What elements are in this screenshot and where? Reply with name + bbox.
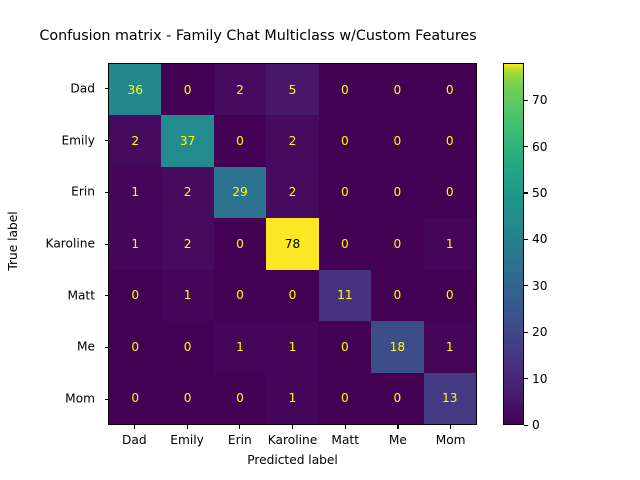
heatmap-cell: 0 xyxy=(371,115,423,166)
heatmap-cell: 0 xyxy=(214,218,266,269)
x-axis-title: Predicted label xyxy=(108,453,477,467)
heatmap-cell-value: 36 xyxy=(127,84,143,96)
heatmap-cell-value: 1 xyxy=(236,341,244,353)
heatmap-cell: 1 xyxy=(424,218,476,269)
y-tick-label-text: Dad xyxy=(70,81,95,95)
heatmap-cell-value: 0 xyxy=(393,84,401,96)
x-tick-label: Mom xyxy=(436,433,466,447)
x-tick-label: Karoline xyxy=(268,433,317,447)
heatmap-cell-value: 2 xyxy=(289,135,297,147)
heatmap-cell: 0 xyxy=(371,373,423,424)
heatmap-cell: 1 xyxy=(109,218,161,269)
heatmap-cell: 0 xyxy=(109,321,161,372)
x-tick-mark xyxy=(450,425,451,429)
heatmap-cell-value: 0 xyxy=(341,84,349,96)
heatmap-cell-value: 0 xyxy=(341,341,349,353)
heatmap-cell-value: 0 xyxy=(289,289,297,301)
heatmap-cell-value: 1 xyxy=(184,289,192,301)
heatmap-cell-value: 11 xyxy=(337,289,353,301)
heatmap-cell-value: 18 xyxy=(390,341,406,353)
heatmap-cell-value: 0 xyxy=(341,392,349,404)
x-axis-tick-labels: DadEmilyErinKarolineMattMeMom xyxy=(108,425,477,455)
heatmap-cell: 1 xyxy=(161,270,213,321)
x-tick-label: Erin xyxy=(228,433,252,447)
heatmap-cell-value: 2 xyxy=(184,186,192,198)
colorbar-tick-label: 30 xyxy=(532,279,548,293)
heatmap-cell: 5 xyxy=(266,64,318,115)
y-tick-label-text: Matt xyxy=(67,288,95,302)
colorbar-tick-mark xyxy=(524,285,528,286)
heatmap-cell-value: 0 xyxy=(393,289,401,301)
heatmap-cell-value: 0 xyxy=(236,392,244,404)
x-tick-mark xyxy=(345,425,346,429)
heatmap-cell: 18 xyxy=(371,321,423,372)
heatmap-cell-value: 0 xyxy=(131,392,139,404)
heatmap-cell: 0 xyxy=(371,167,423,218)
heatmap-cell: 0 xyxy=(319,321,371,372)
heatmap-cell-value: 0 xyxy=(393,135,401,147)
colorbar-tick-mark xyxy=(524,146,528,147)
heatmap-cell: 0 xyxy=(319,167,371,218)
heatmap-cell: 1 xyxy=(214,321,266,372)
heatmap-cell-value: 2 xyxy=(184,238,192,250)
heatmap-cell-value: 2 xyxy=(236,84,244,96)
heatmap-cell-value: 1 xyxy=(131,186,139,198)
heatmap-cell-value: 0 xyxy=(446,289,454,301)
heatmap-cell: 0 xyxy=(424,115,476,166)
heatmap-cell: 36 xyxy=(109,64,161,115)
heatmap-cell-value: 0 xyxy=(184,341,192,353)
heatmap-cell-value: 37 xyxy=(180,135,196,147)
heatmap-cell-value: 0 xyxy=(236,135,244,147)
heatmap-cell-value: 0 xyxy=(393,392,401,404)
heatmap-cell-value: 1 xyxy=(289,341,297,353)
heatmap-cell: 29 xyxy=(214,167,266,218)
heatmap-cell: 0 xyxy=(371,270,423,321)
y-tick-label-text: Karoline xyxy=(46,237,95,251)
colorbar-tick-mark xyxy=(524,378,528,379)
heatmap-cell-value: 0 xyxy=(184,392,192,404)
colorbar-tick-label: 70 xyxy=(532,93,548,107)
heatmap-cell: 2 xyxy=(214,64,266,115)
colorbar-gradient xyxy=(503,63,524,425)
chart-title: Confusion matrix - Family Chat Multiclas… xyxy=(0,28,516,44)
x-tick-label: Dad xyxy=(122,433,147,447)
colorbar-tick-label: 40 xyxy=(532,232,548,246)
heatmap-cell: 0 xyxy=(266,270,318,321)
colorbar-tick-label: 20 xyxy=(532,325,548,339)
heatmap-cell: 0 xyxy=(161,64,213,115)
heatmap-cell-value: 0 xyxy=(393,238,401,250)
heatmap-cell: 0 xyxy=(424,64,476,115)
heatmap-cell-value: 0 xyxy=(131,289,139,301)
heatmap-cell-value: 0 xyxy=(236,289,244,301)
heatmap-cell-value: 0 xyxy=(393,186,401,198)
colorbar-tick-mark xyxy=(524,332,528,333)
colorbar-tick-label: 10 xyxy=(532,372,548,386)
heatmap-cell: 2 xyxy=(109,115,161,166)
x-tick-label: Matt xyxy=(331,433,359,447)
heatmap-cell-value: 2 xyxy=(289,186,297,198)
y-axis-tick-labels: DadEmilyErinKarolineMattMeMom xyxy=(0,63,108,425)
heatmap-cell: 78 xyxy=(266,218,318,269)
y-tick-label-text: Erin xyxy=(71,185,95,199)
heatmap-cell-value: 0 xyxy=(341,238,349,250)
heatmap-cell-value: 2 xyxy=(131,135,139,147)
x-tick-mark xyxy=(397,425,398,429)
heatmap-cell: 2 xyxy=(266,115,318,166)
colorbar-tick-label: 50 xyxy=(532,186,548,200)
heatmap-cell: 0 xyxy=(424,270,476,321)
y-tick-label-text: Emily xyxy=(61,133,95,147)
heatmap-cell: 0 xyxy=(214,270,266,321)
colorbar-tick-mark xyxy=(524,192,528,193)
confusion-matrix-figure: Confusion matrix - Family Chat Multiclas… xyxy=(0,0,640,480)
heatmap-cell-value: 0 xyxy=(184,84,192,96)
x-tick-mark xyxy=(292,425,293,429)
heatmap-cell-value: 0 xyxy=(446,186,454,198)
heatmap-cell: 11 xyxy=(319,270,371,321)
heatmap-cell-value: 0 xyxy=(341,186,349,198)
colorbar-tick-label: 0 xyxy=(532,418,540,432)
heatmap-cell: 2 xyxy=(266,167,318,218)
heatmap-cell-value: 0 xyxy=(446,135,454,147)
heatmap-cell: 0 xyxy=(214,373,266,424)
x-tick-mark xyxy=(134,425,135,429)
heatmap-cell-value: 5 xyxy=(289,84,297,96)
heatmap-cell: 37 xyxy=(161,115,213,166)
heatmap-cell: 0 xyxy=(319,115,371,166)
heatmap-cell: 0 xyxy=(319,218,371,269)
heatmap-cell: 0 xyxy=(371,218,423,269)
heatmap-cell: 0 xyxy=(319,64,371,115)
heatmap-cell: 0 xyxy=(319,373,371,424)
x-tick-label: Emily xyxy=(170,433,204,447)
y-tick-label-text: Mom xyxy=(65,392,95,406)
heatmap-cell-value: 29 xyxy=(232,186,248,198)
heatmap-cell: 13 xyxy=(424,373,476,424)
heatmap-cell: 0 xyxy=(424,167,476,218)
heatmap-plot-area: 3602500023702000122920001207800101001100… xyxy=(108,63,477,425)
heatmap-cell: 0 xyxy=(109,373,161,424)
heatmap-cell: 1 xyxy=(266,321,318,372)
heatmap-cell: 2 xyxy=(161,167,213,218)
heatmap-cell: 0 xyxy=(214,115,266,166)
x-tick-mark xyxy=(239,425,240,429)
colorbar-tick-mark xyxy=(524,100,528,101)
heatmap-cell: 1 xyxy=(424,321,476,372)
heatmap-cell-value: 13 xyxy=(442,392,458,404)
heatmap-cell: 0 xyxy=(161,321,213,372)
heatmap-cell-value: 1 xyxy=(446,238,454,250)
heatmap-cell: 2 xyxy=(161,218,213,269)
heatmap-cell-value: 0 xyxy=(446,84,454,96)
heatmap-cell-value: 0 xyxy=(236,238,244,250)
y-tick-label-text: Me xyxy=(77,340,95,354)
colorbar-tick-mark xyxy=(524,239,528,240)
heatmap-cell-value: 1 xyxy=(131,238,139,250)
heatmap-cell-value: 0 xyxy=(131,341,139,353)
heatmap-cell-grid: 3602500023702000122920001207800101001100… xyxy=(109,64,476,424)
heatmap-cell-value: 78 xyxy=(285,238,301,250)
x-tick-label: Me xyxy=(389,433,407,447)
heatmap-cell: 0 xyxy=(109,270,161,321)
heatmap-cell-value: 0 xyxy=(341,135,349,147)
heatmap-cell: 0 xyxy=(161,373,213,424)
heatmap-cell-value: 1 xyxy=(446,341,454,353)
colorbar: 010203040506070 xyxy=(503,63,524,425)
heatmap-cell: 1 xyxy=(109,167,161,218)
colorbar-tick-label: 60 xyxy=(532,140,548,154)
heatmap-cell-value: 1 xyxy=(289,392,297,404)
x-tick-mark xyxy=(187,425,188,429)
heatmap-cell: 0 xyxy=(371,64,423,115)
heatmap-cell: 1 xyxy=(266,373,318,424)
colorbar-tick-mark xyxy=(524,425,528,426)
